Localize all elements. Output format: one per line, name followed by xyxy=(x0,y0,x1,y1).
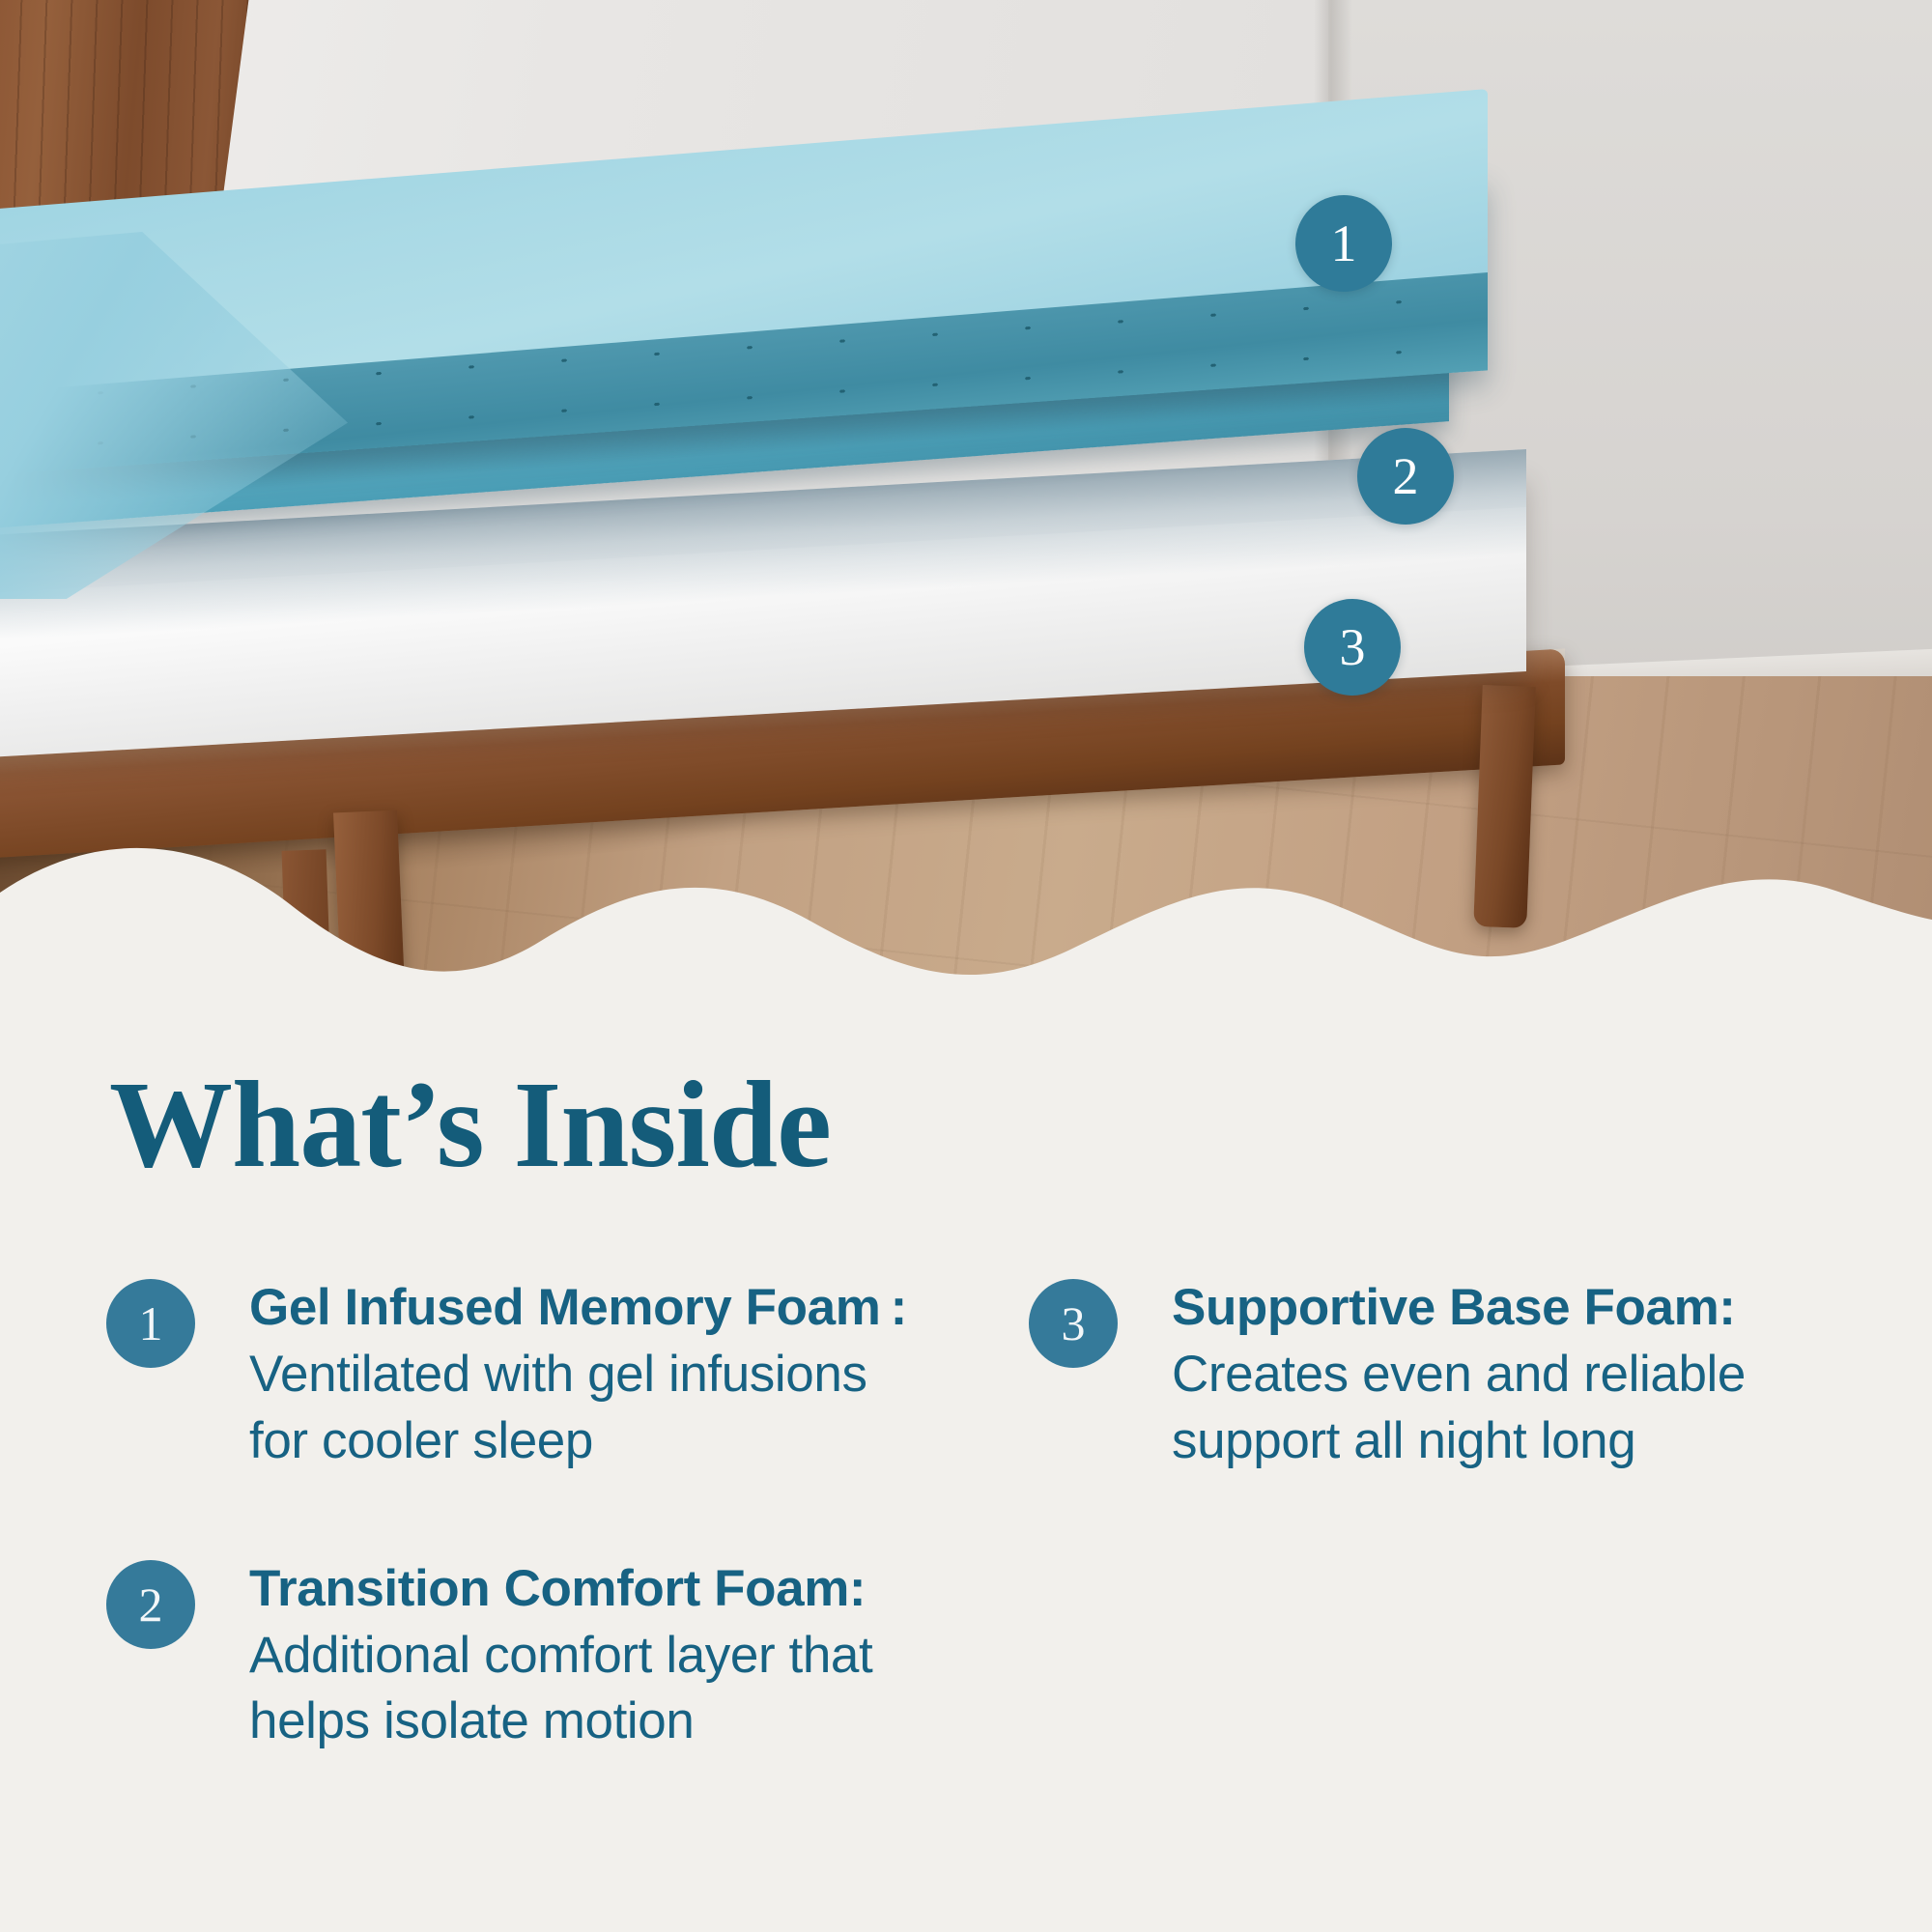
features-column-right: 3 Supportive Base Foam: Creates even and… xyxy=(1029,1275,1831,1475)
photo-badge-1-number: 1 xyxy=(1331,217,1357,270)
page-title: What’s Inside xyxy=(109,1063,831,1186)
list-item-1-title: Gel Infused Memory Foam : xyxy=(249,1279,907,1336)
infographic-page: 1 2 3 What’s Inside 1 Gel Infused Memory… xyxy=(0,0,1932,1932)
list-item-2-text: Transition Comfort Foam: Additional comf… xyxy=(249,1556,908,1756)
hero-photo: 1 2 3 xyxy=(0,0,1932,1024)
photo-badge-3-number: 3 xyxy=(1340,621,1366,673)
list-badge-1[interactable]: 1 xyxy=(106,1279,195,1368)
photo-badge-2-number: 2 xyxy=(1393,450,1419,502)
list-item-1-text: Gel Infused Memory Foam : Ventilated wit… xyxy=(249,1275,908,1475)
list-item-1: 1 Gel Infused Memory Foam : Ventilated w… xyxy=(106,1275,908,1475)
photo-badge-2[interactable]: 2 xyxy=(1357,428,1454,525)
list-badge-2[interactable]: 2 xyxy=(106,1560,195,1649)
list-item-3: 3 Supportive Base Foam: Creates even and… xyxy=(1029,1275,1831,1475)
photo-badge-3[interactable]: 3 xyxy=(1304,599,1401,696)
list-item-2: 2 Transition Comfort Foam: Additional co… xyxy=(106,1556,908,1756)
list-item-3-description: Creates even and reliable support all ni… xyxy=(1172,1346,1746,1469)
photo-badge-1[interactable]: 1 xyxy=(1295,195,1392,292)
list-badge-3[interactable]: 3 xyxy=(1029,1279,1118,1368)
features-column-left: 1 Gel Infused Memory Foam : Ventilated w… xyxy=(106,1275,908,1755)
list-item-2-title: Transition Comfort Foam: xyxy=(249,1560,866,1617)
list-badge-1-number: 1 xyxy=(139,1299,163,1348)
list-badge-3-number: 3 xyxy=(1062,1299,1086,1348)
list-item-2-description: Additional comfort layer that helps isol… xyxy=(249,1627,872,1750)
list-item-1-description: Ventilated with gel infusions for cooler… xyxy=(249,1346,867,1469)
list-badge-2-number: 2 xyxy=(139,1580,163,1629)
list-item-3-text: Supportive Base Foam: Creates even and r… xyxy=(1172,1275,1831,1475)
wave-divider xyxy=(0,833,1932,1024)
list-item-3-title: Supportive Base Foam: xyxy=(1172,1279,1736,1336)
